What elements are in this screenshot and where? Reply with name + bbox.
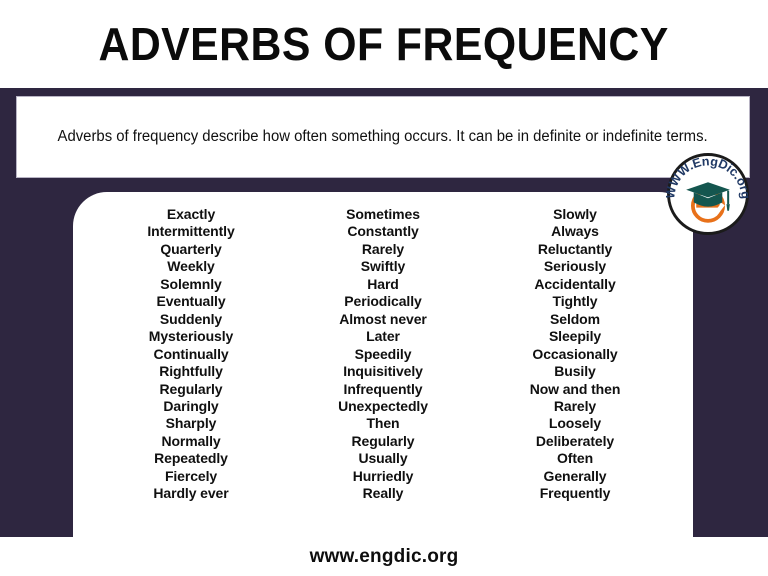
word-item: Hurriedly (353, 468, 414, 485)
word-item: Quarterly (160, 241, 221, 258)
footer-band: www.engdic.org (0, 537, 768, 576)
word-item: Intermittently (147, 223, 234, 240)
page-title: ADVERBS OF FREQUENCY (99, 21, 669, 67)
word-item: Tightly (553, 293, 598, 310)
word-item: Weekly (167, 258, 214, 275)
word-item: Normally (161, 433, 220, 450)
word-item: Solemnly (160, 276, 221, 293)
word-item: Rightfully (159, 363, 223, 380)
word-item: Hard (367, 276, 399, 293)
word-item: Occasionally (532, 346, 617, 363)
word-item: Busily (554, 363, 595, 380)
word-item: Accidentally (534, 276, 615, 293)
word-item: Exactly (167, 206, 215, 223)
title-band: ADVERBS OF FREQUENCY (0, 0, 768, 88)
word-item: Later (366, 328, 400, 345)
word-item: Usually (358, 450, 407, 467)
word-item: Eventually (156, 293, 225, 310)
footer-url: www.engdic.org (310, 546, 459, 568)
word-column-1: ExactlyIntermittentlyQuarterlyWeeklySole… (95, 206, 287, 576)
word-item: Loosely (549, 415, 601, 432)
word-item: Mysteriously (149, 328, 233, 345)
word-item: Suddenly (160, 311, 222, 328)
word-item: Periodically (344, 293, 421, 310)
word-item: Sometimes (346, 206, 420, 223)
word-item: Frequently (540, 485, 611, 502)
word-item: Then (366, 415, 399, 432)
word-item: Hardly ever (153, 485, 228, 502)
word-item: Seriously (544, 258, 606, 275)
word-item: Often (557, 450, 593, 467)
engdic-logo-badge: WWW.EngDic.org (666, 152, 750, 236)
word-item: Unexpectedly (338, 398, 428, 415)
word-item: Daringly (163, 398, 218, 415)
word-item: Deliberately (536, 433, 614, 450)
word-column-3: SlowlyAlwaysReluctantlySeriouslyAccident… (479, 206, 671, 576)
word-item: Generally (544, 468, 607, 485)
word-item: Sharply (166, 415, 217, 432)
word-item: Constantly (347, 223, 418, 240)
word-item: Repeatedly (154, 450, 228, 467)
word-item: Rarely (554, 398, 596, 415)
word-item: Continually (153, 346, 228, 363)
description-box: Adverbs of frequency describe how often … (16, 96, 750, 178)
word-item: Inquisitively (343, 363, 423, 380)
word-item: Regularly (352, 433, 415, 450)
word-item: Speedily (355, 346, 412, 363)
word-item: Infrequently (344, 381, 423, 398)
word-item: Now and then (530, 381, 621, 398)
word-item: Seldom (550, 311, 600, 328)
content-panel: Adverbs of frequency describe how often … (0, 88, 768, 537)
word-item: Almost never (339, 311, 427, 328)
word-item: Slowly (553, 206, 597, 223)
description-text: Adverbs of frequency describe how often … (58, 126, 708, 148)
word-item: Fiercely (165, 468, 217, 485)
word-item: Really (363, 485, 404, 502)
word-column-2: SometimesConstantlyRarelySwiftlyHardPeri… (287, 206, 479, 576)
word-item: Rarely (362, 241, 404, 258)
word-item: Regularly (160, 381, 223, 398)
word-list-card: ExactlyIntermittentlyQuarterlyWeeklySole… (73, 192, 693, 576)
word-item: Always (551, 223, 599, 240)
word-item: Swiftly (361, 258, 405, 275)
word-item: Sleepily (549, 328, 601, 345)
word-item: Reluctantly (538, 241, 612, 258)
